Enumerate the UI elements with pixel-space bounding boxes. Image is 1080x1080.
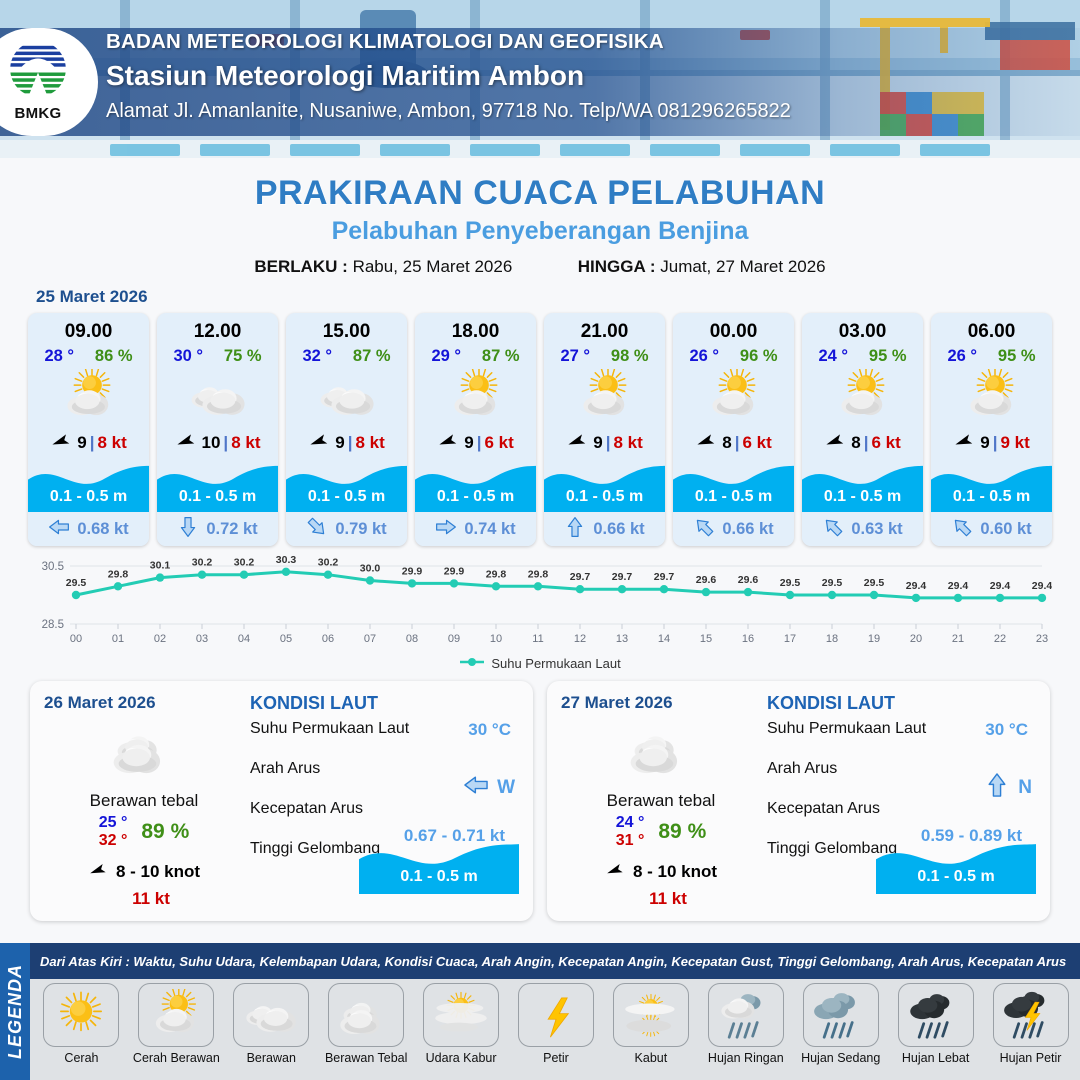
wind-direction-icon [437, 429, 461, 458]
sst-row: Suhu Permukaan Laut 30 °C [767, 720, 1036, 760]
forecast-day-label: 25 Maret 2026 [36, 287, 1080, 307]
svg-text:15: 15 [700, 633, 712, 645]
svg-text:30.0: 30.0 [360, 563, 381, 575]
forecast-card[interactable]: 15.00 32 ° 87 % 9 | 8 kt [286, 313, 407, 546]
legend-item-label: Hujan Lebat [902, 1051, 969, 1065]
svg-text:30.2: 30.2 [234, 557, 255, 569]
wind-direction-icon [953, 429, 977, 458]
legend-item: Hujan Lebat [892, 983, 979, 1080]
card-wind: 10 | 8 kt [157, 428, 278, 458]
svg-text:29.8: 29.8 [486, 568, 507, 580]
legend-side-label: LEGENDA [5, 964, 26, 1059]
legend-item: Udara Kabur [418, 983, 505, 1080]
wind-speed: 9 [980, 433, 989, 453]
current-direction-icon [984, 772, 1010, 803]
wave-height: 0.1 - 0.5 m [28, 488, 149, 506]
current-direction-icon [693, 516, 715, 543]
panel-date: 26 Maret 2026 [44, 693, 244, 713]
card-wave: 0.1 - 0.5 m [415, 458, 536, 512]
card-time: 03.00 [802, 313, 923, 343]
legend-item-label: Berawan [247, 1051, 296, 1065]
wind-speed: 8 [722, 433, 731, 453]
svg-text:30.3: 30.3 [276, 554, 297, 566]
weather-berawan-icon [157, 368, 278, 426]
svg-text:08: 08 [406, 633, 418, 645]
svg-text:05: 05 [280, 633, 292, 645]
card-wave: 0.1 - 0.5 m [28, 458, 149, 512]
current-speed: 0.63 kt [851, 520, 902, 539]
card-humidity: 86 % [95, 347, 133, 366]
day-summary-panel[interactable]: 27 Maret 2026 Berawan tebal 24 ° 31 ° 89… [547, 681, 1050, 921]
station-address: Alamat Jl. Amanlanite, Nusaniwe, Ambon, … [106, 100, 791, 123]
hingga-value: Jumat, 27 Maret 2026 [660, 257, 825, 276]
sst-value: 30 °C [985, 720, 1028, 740]
card-temperature: 28 ° [44, 347, 74, 366]
forecast-card[interactable]: 00.00 26 ° 96 % [673, 313, 794, 546]
weather-cerah-berawan-icon [802, 368, 923, 426]
panel-right: KONDISI LAUT Suhu Permukaan Laut 30 °C A… [244, 693, 519, 911]
wind-direction-icon [88, 859, 110, 886]
current-direction-icon [48, 516, 70, 543]
card-current: 0.74 kt [415, 512, 536, 546]
card-humidity: 75 % [224, 347, 262, 366]
svg-text:06: 06 [322, 633, 334, 645]
svg-text:23: 23 [1036, 633, 1048, 645]
svg-text:30.5: 30.5 [42, 561, 64, 573]
sst-value: 30 °C [468, 720, 511, 740]
wave-height-graphic: 0.1 - 0.5 m [876, 836, 1036, 894]
svg-text:17: 17 [784, 633, 796, 645]
card-current: 0.66 kt [544, 512, 665, 546]
weather-cerah-berawan-icon [138, 983, 214, 1047]
current-speed: 0.79 kt [335, 520, 386, 539]
current-speed-label: Kecepatan Arus [250, 800, 363, 817]
current-speed: 0.68 kt [77, 520, 128, 539]
wind-gust-separator: | [223, 433, 228, 453]
wind-direction-icon [175, 429, 199, 458]
legend-item-label: Hujan Ringan [708, 1051, 784, 1065]
card-temp-humidity: 26 ° 96 % [673, 343, 794, 366]
svg-text:18: 18 [826, 633, 838, 645]
weather-cerah-berawan-icon [544, 368, 665, 426]
current-direction-row: Arah Arus N [767, 760, 1036, 800]
weather-cerah-berawan-icon [931, 368, 1052, 426]
card-humidity: 87 % [353, 347, 391, 366]
current-direction-label: Arah Arus [767, 760, 837, 777]
wind-speed: 9 [593, 433, 602, 453]
wind-direction-icon [695, 429, 719, 458]
current-direction-label: Arah Arus [250, 760, 320, 777]
organization-name: BADAN METEOROLOGI KLIMATOLOGI DAN GEOFIS… [106, 30, 791, 54]
wave-height-row: Tinggi Gelombang 0.1 - 0.5 m [250, 840, 519, 880]
wind-gust-separator: | [993, 433, 998, 453]
panel-left: 26 Maret 2026 Berawan tebal 25 ° 32 ° 89… [44, 693, 244, 911]
legend-item: Hujan Sedang [797, 983, 884, 1080]
legend-item-label: Hujan Sedang [801, 1051, 880, 1065]
current-direction-value: W [497, 777, 515, 799]
legend-item: Cerah Berawan [133, 983, 220, 1080]
current-direction-row: Arah Arus W [250, 760, 519, 800]
header-text-block: BADAN METEOROLOGI KLIMATOLOGI DAN GEOFIS… [106, 30, 791, 123]
svg-text:29.6: 29.6 [738, 574, 759, 586]
svg-text:07: 07 [364, 633, 376, 645]
svg-text:12: 12 [574, 633, 586, 645]
forecast-card[interactable]: 12.00 30 ° 75 % 10 | 8 kt [157, 313, 278, 546]
day-summary-panels: 26 Maret 2026 Berawan tebal 25 ° 32 ° 89… [0, 671, 1080, 921]
card-time: 00.00 [673, 313, 794, 343]
wind-gust-separator: | [348, 433, 353, 453]
weather-hujan-petir-icon [993, 983, 1069, 1047]
svg-text:29.5: 29.5 [780, 577, 801, 589]
sst-label: Suhu Permukaan Laut [767, 720, 926, 737]
panel-condition: Berawan tebal [44, 791, 244, 811]
card-wave: 0.1 - 0.5 m [286, 458, 407, 512]
current-speed-row: Kecepatan Arus 0.67 - 0.71 kt [250, 800, 519, 840]
svg-text:00: 00 [70, 633, 82, 645]
wind-speed: 9 [335, 433, 344, 453]
weather-cerah-berawan-icon [28, 368, 149, 426]
svg-text:29.8: 29.8 [528, 568, 549, 580]
weather-petir-icon [518, 983, 594, 1047]
card-temp-humidity: 24 ° 95 % [802, 343, 923, 366]
panel-gust: 11 kt [575, 889, 761, 909]
weather-cerah-berawan-icon [415, 368, 536, 426]
current-direction-icon [822, 516, 844, 543]
card-temp-humidity: 27 ° 98 % [544, 343, 665, 366]
current-speed: 0.74 kt [464, 520, 515, 539]
card-time: 06.00 [931, 313, 1052, 343]
card-current: 0.60 kt [931, 512, 1052, 546]
wind-direction-icon [605, 859, 627, 886]
current-direction-icon [177, 516, 199, 543]
card-time: 09.00 [28, 313, 149, 343]
legend-side-bar: LEGENDA [0, 943, 30, 1080]
legend-item: Hujan Petir [987, 983, 1074, 1080]
legend-item-label: Berawan Tebal [325, 1051, 407, 1065]
card-wave: 0.1 - 0.5 m [802, 458, 923, 512]
card-temp-humidity: 30 ° 75 % [157, 343, 278, 366]
sst-label: Suhu Permukaan Laut [250, 720, 409, 737]
berlaku-label: BERLAKU : [254, 257, 348, 276]
wind-gust-separator: | [606, 433, 611, 453]
svg-text:29.9: 29.9 [444, 565, 465, 577]
bmkg-logo-text: BMKG [3, 105, 73, 122]
card-temp-humidity: 32 ° 87 % [286, 343, 407, 366]
svg-text:02: 02 [154, 633, 166, 645]
card-wind: 9 | 9 kt [931, 428, 1052, 458]
wave-height: 0.1 - 0.5 m [931, 488, 1052, 506]
panel-temp-min: 24 ° [616, 814, 645, 832]
panel-right: KONDISI LAUT Suhu Permukaan Laut 30 °C A… [761, 693, 1036, 911]
legend-item-label: Petir [543, 1051, 569, 1065]
svg-text:28.5: 28.5 [42, 619, 64, 631]
card-temperature: 24 ° [818, 347, 848, 366]
card-temp-humidity: 26 ° 95 % [931, 343, 1052, 366]
svg-text:30.2: 30.2 [318, 557, 339, 569]
forecast-card[interactable]: 18.00 29 ° 87 % [415, 313, 536, 546]
card-wind: 9 | 8 kt [544, 428, 665, 458]
svg-text:29.7: 29.7 [570, 571, 591, 583]
current-speed: 0.72 kt [206, 520, 257, 539]
card-current: 0.72 kt [157, 512, 278, 546]
page-subtitle: Pelabuhan Penyeberangan Benjina [0, 217, 1080, 246]
title-block: PRAKIRAAN CUACA PELABUHAN Pelabuhan Peny… [0, 174, 1080, 277]
svg-text:29.8: 29.8 [108, 568, 129, 580]
wave-height: 0.1 - 0.5 m [802, 488, 923, 506]
wave-height: 0.1 - 0.5 m [544, 488, 665, 506]
wind-gust: 6 kt [742, 433, 771, 453]
card-wave: 0.1 - 0.5 m [157, 458, 278, 512]
legend-footer: LEGENDA Dari Atas Kiri : Waktu, Suhu Uda… [0, 943, 1080, 1080]
weather-cerah-icon [43, 983, 119, 1047]
card-temp-humidity: 28 ° 86 % [28, 343, 149, 366]
svg-text:20: 20 [910, 633, 922, 645]
panel-wind: 8 - 10 knot [561, 859, 761, 886]
legend-item-label: Kabut [635, 1051, 668, 1065]
card-wind: 8 | 6 kt [802, 428, 923, 458]
svg-text:01: 01 [112, 633, 124, 645]
wind-speed: 10 [202, 433, 221, 453]
card-wind: 9 | 6 kt [415, 428, 536, 458]
legend-icon-row: Cerah Cerah Berawan [30, 979, 1080, 1080]
chart-legend-marker-icon [459, 656, 485, 671]
wind-gust: 8 kt [355, 433, 384, 453]
weather-udara-kabur-icon [423, 983, 499, 1047]
svg-text:29.4: 29.4 [990, 580, 1011, 592]
wave-height: 0.1 - 0.5 m [157, 488, 278, 506]
card-temperature: 27 ° [560, 347, 590, 366]
wind-speed: 9 [464, 433, 473, 453]
current-direction-icon [306, 516, 328, 543]
card-humidity: 96 % [740, 347, 778, 366]
panel-temp-min: 25 ° [99, 814, 128, 832]
card-time: 12.00 [157, 313, 278, 343]
validity-period: BERLAKU : Rabu, 25 Maret 2026 HINGGA : J… [0, 257, 1080, 277]
wind-direction-icon [824, 429, 848, 458]
card-wave: 0.1 - 0.5 m [931, 458, 1052, 512]
wind-gust: 8 kt [613, 433, 642, 453]
sea-condition-title: KONDISI LAUT [767, 693, 1036, 714]
forecast-card[interactable]: 21.00 27 ° 98 % [544, 313, 665, 546]
card-wave: 0.1 - 0.5 m [673, 458, 794, 512]
card-wind: 9 | 8 kt [286, 428, 407, 458]
legend-item: Berawan Tebal [323, 983, 410, 1080]
svg-text:04: 04 [238, 633, 250, 645]
card-temperature: 30 ° [173, 347, 203, 366]
current-speed-row: Kecepatan Arus 0.59 - 0.89 kt [767, 800, 1036, 840]
svg-text:14: 14 [658, 633, 670, 645]
card-temperature: 29 ° [431, 347, 461, 366]
wind-gust-separator: | [735, 433, 740, 453]
svg-text:30.2: 30.2 [192, 557, 213, 569]
svg-text:29.4: 29.4 [906, 580, 927, 592]
card-current: 0.63 kt [802, 512, 923, 546]
svg-text:29.7: 29.7 [654, 571, 675, 583]
panel-humidity: 89 % [141, 820, 189, 844]
panel-gust: 11 kt [58, 889, 244, 909]
svg-text:29.4: 29.4 [1032, 580, 1052, 592]
card-wave: 0.1 - 0.5 m [544, 458, 665, 512]
legend-note: Dari Atas Kiri : Waktu, Suhu Udara, Kele… [30, 943, 1080, 979]
chart-legend-label: Suhu Permukaan Laut [491, 656, 620, 671]
legend-item: Berawan [228, 983, 315, 1080]
forecast-card[interactable]: 06.00 26 ° 95 % [931, 313, 1052, 546]
svg-text:29.9: 29.9 [402, 565, 423, 577]
svg-text:30.1: 30.1 [150, 560, 171, 572]
day-summary-panel[interactable]: 26 Maret 2026 Berawan tebal 25 ° 32 ° 89… [30, 681, 533, 921]
panel-wind-speed: 8 - 10 knot [633, 862, 717, 882]
page-title: PRAKIRAAN CUACA PELABUHAN [0, 174, 1080, 213]
card-temperature: 26 ° [689, 347, 719, 366]
wind-gust: 6 kt [871, 433, 900, 453]
panel-humidity: 89 % [658, 820, 706, 844]
svg-text:09: 09 [448, 633, 460, 645]
wind-direction-icon [566, 429, 590, 458]
current-speed-label: Kecepatan Arus [767, 800, 880, 817]
wind-gust-separator: | [90, 433, 95, 453]
current-speed: 0.66 kt [593, 520, 644, 539]
current-speed: 0.66 kt [722, 520, 773, 539]
current-direction-icon [564, 516, 586, 543]
card-time: 21.00 [544, 313, 665, 343]
panel-temps: 25 ° 32 ° 89 % [44, 814, 244, 851]
svg-text:22: 22 [994, 633, 1006, 645]
panel-date: 27 Maret 2026 [561, 693, 761, 713]
wind-gust-separator: | [477, 433, 482, 453]
wind-speed: 8 [851, 433, 860, 453]
card-humidity: 95 % [998, 347, 1036, 366]
weather-hujan-ringan-icon [708, 983, 784, 1047]
current-direction-icon [435, 516, 457, 543]
weather-berawan-tebal-icon [44, 719, 244, 781]
wind-direction-icon [308, 429, 332, 458]
legend-item-label: Cerah [64, 1051, 98, 1065]
forecast-card[interactable]: 09.00 28 ° 86 % [28, 313, 149, 546]
legend-item-label: Cerah Berawan [133, 1051, 220, 1065]
svg-text:29.5: 29.5 [66, 577, 87, 589]
weather-berawan-icon [286, 368, 407, 426]
card-wind: 8 | 6 kt [673, 428, 794, 458]
legend-item: Petir [513, 983, 600, 1080]
weather-hujan-lebat-icon [898, 983, 974, 1047]
card-current: 0.68 kt [28, 512, 149, 546]
wind-gust: 8 kt [231, 433, 260, 453]
weather-hujan-sedang-icon [803, 983, 879, 1047]
card-temp-humidity: 29 ° 87 % [415, 343, 536, 366]
svg-text:29.5: 29.5 [822, 577, 843, 589]
card-humidity: 87 % [482, 347, 520, 366]
svg-text:29.5: 29.5 [864, 577, 885, 589]
wind-gust: 6 kt [484, 433, 513, 453]
wind-gust: 8 kt [97, 433, 126, 453]
svg-text:29.4: 29.4 [948, 580, 969, 592]
card-humidity: 98 % [611, 347, 649, 366]
svg-text:10: 10 [490, 633, 502, 645]
card-current: 0.79 kt [286, 512, 407, 546]
weather-cerah-berawan-icon [673, 368, 794, 426]
wind-direction-icon [50, 429, 74, 458]
wind-gust-separator: | [864, 433, 869, 453]
svg-text:19: 19 [868, 633, 880, 645]
wind-gust: 9 kt [1000, 433, 1029, 453]
wave-height-value: 0.1 - 0.5 m [359, 868, 519, 886]
card-time: 15.00 [286, 313, 407, 343]
card-temperature: 26 ° [947, 347, 977, 366]
panel-condition: Berawan tebal [561, 791, 761, 811]
legend-item-label: Hujan Petir [1000, 1051, 1062, 1065]
svg-text:21: 21 [952, 633, 964, 645]
svg-text:03: 03 [196, 633, 208, 645]
wave-height: 0.1 - 0.5 m [673, 488, 794, 506]
current-direction-icon [463, 772, 489, 803]
forecast-card-row: 09.00 28 ° 86 % [0, 307, 1080, 546]
chart-legend: Suhu Permukaan Laut [0, 656, 1080, 671]
wave-height-row: Tinggi Gelombang 0.1 - 0.5 m [767, 840, 1036, 880]
svg-text:29.7: 29.7 [612, 571, 633, 583]
sst-chart: 30.5 28.5 000102030405060708091011121314… [28, 552, 1052, 652]
wave-height: 0.1 - 0.5 m [286, 488, 407, 506]
sea-condition-title: KONDISI LAUT [250, 693, 519, 714]
panel-temp-max: 31 ° [616, 832, 645, 850]
sst-row: Suhu Permukaan Laut 30 °C [250, 720, 519, 760]
svg-text:13: 13 [616, 633, 628, 645]
current-direction-value: N [1018, 777, 1032, 799]
berlaku-value: Rabu, 25 Maret 2026 [353, 257, 513, 276]
page-header: BMKG BADAN METEOROLOGI KLIMATOLOGI DAN G… [0, 0, 1080, 158]
weather-berawan-tebal-icon [328, 983, 404, 1047]
panel-wind: 8 - 10 knot [44, 859, 244, 886]
wave-height-graphic: 0.1 - 0.5 m [359, 836, 519, 894]
current-direction-icon [951, 516, 973, 543]
card-wind: 9 | 8 kt [28, 428, 149, 458]
legend-item: Hujan Ringan [702, 983, 789, 1080]
wave-height-value: 0.1 - 0.5 m [876, 868, 1036, 886]
forecast-card[interactable]: 03.00 24 ° 95 % [802, 313, 923, 546]
panel-temp-max: 32 ° [99, 832, 128, 850]
card-temperature: 32 ° [302, 347, 332, 366]
legend-item: Cerah [38, 983, 125, 1080]
station-name: Stasiun Meteorologi Maritim Ambon [106, 60, 791, 92]
legend-item-label: Udara Kabur [426, 1051, 497, 1065]
panel-temps: 24 ° 31 ° 89 % [561, 814, 761, 851]
svg-text:29.6: 29.6 [696, 574, 717, 586]
weather-berawan-icon [233, 983, 309, 1047]
panel-left: 27 Maret 2026 Berawan tebal 24 ° 31 ° 89… [561, 693, 761, 911]
card-humidity: 95 % [869, 347, 907, 366]
svg-text:16: 16 [742, 633, 754, 645]
legend-item: Kabut [607, 983, 694, 1080]
weather-kabut-icon [613, 983, 689, 1047]
panel-wind-speed: 8 - 10 knot [116, 862, 200, 882]
wave-height: 0.1 - 0.5 m [415, 488, 536, 506]
hingga-label: HINGGA : [578, 257, 656, 276]
wind-speed: 9 [77, 433, 86, 453]
svg-text:11: 11 [532, 633, 543, 645]
bmkg-logo-icon [9, 40, 67, 98]
sst-line-chart: 30.5 28.5 000102030405060708091011121314… [28, 552, 1052, 652]
current-speed: 0.60 kt [980, 520, 1031, 539]
card-current: 0.66 kt [673, 512, 794, 546]
weather-berawan-tebal-icon [561, 719, 761, 781]
card-time: 18.00 [415, 313, 536, 343]
